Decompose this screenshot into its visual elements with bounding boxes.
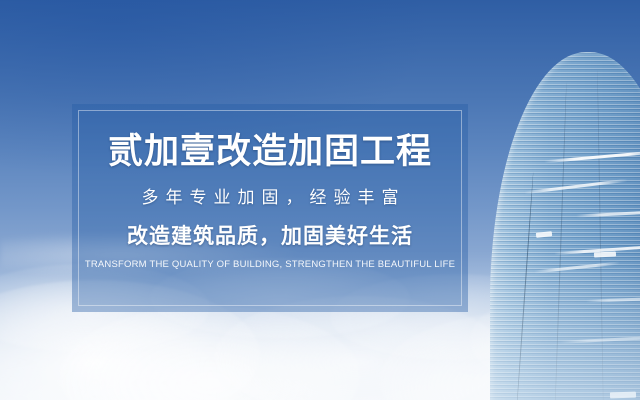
banner-slogan-english: TRANSFORM THE QUALITY OF BUILDING, STREN… [85, 259, 455, 270]
banner-slogan: 改造建筑品质，加固美好生活 [127, 224, 413, 249]
building-window [536, 231, 552, 238]
glass-highlight [524, 179, 628, 195]
skyscraper-photo [490, 0, 640, 400]
banner-subtitle: 多年专业加固，经验丰富 [135, 188, 406, 208]
building-mullion [554, 82, 567, 400]
building-window [610, 392, 636, 399]
skyscraper-body [490, 52, 640, 400]
building-mullion [597, 70, 604, 400]
building-mullion [515, 172, 533, 400]
headline-panel: 贰加壹改造加固工程 多年专业加固，经验丰富 改造建筑品质，加固美好生活 TRAN… [72, 104, 468, 312]
glass-highlight [560, 335, 640, 344]
banner-title: 贰加壹改造加固工程 [108, 132, 432, 171]
glass-highlight [544, 150, 640, 163]
hero-banner: 贰加壹改造加固工程 多年专业加固，经验丰富 改造建筑品质，加固美好生活 TRAN… [0, 0, 640, 400]
building-window [594, 251, 616, 257]
panel-content: 贰加壹改造加固工程 多年专业加固，经验丰富 改造建筑品质，加固美好生活 TRAN… [72, 104, 468, 312]
glass-highlight [576, 209, 640, 217]
glass-highlight [586, 296, 640, 302]
glass-highlight [534, 262, 620, 274]
